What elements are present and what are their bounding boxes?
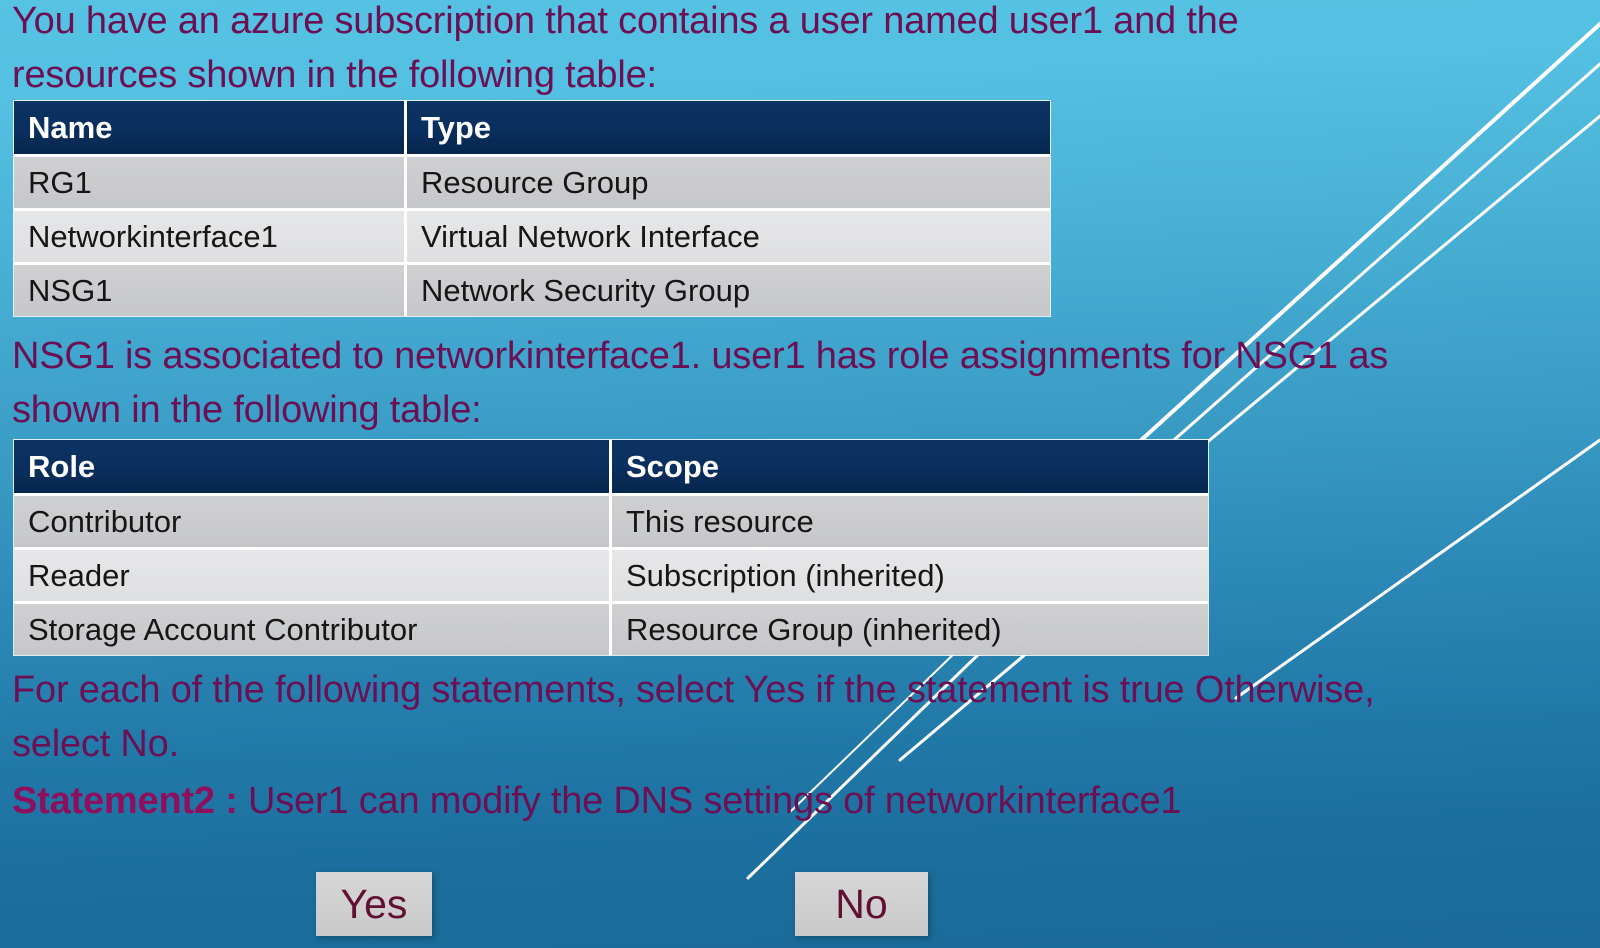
cell-name: Networkinterface1	[14, 211, 407, 265]
statement-label: Statement2 :	[12, 780, 248, 822]
nsg-paragraph: NSG1 is associated to networkinterface1.…	[12, 329, 1388, 437]
cell-role: Storage Account Contributor	[14, 604, 612, 655]
cell-type: Virtual Network Interface	[407, 211, 1050, 265]
intro-paragraph: You have an azure subscription that cont…	[12, 0, 1239, 102]
instruction-line-2: select No.	[12, 717, 1374, 771]
no-button[interactable]: No	[795, 872, 928, 936]
instruction-paragraph: For each of the following statements, se…	[12, 663, 1374, 771]
statement-paragraph: Statement2 : User1 can modify the DNS se…	[12, 774, 1181, 828]
table-row: NSG1 Network Security Group	[14, 265, 1050, 316]
resources-table: Name Type RG1 Resource Group Networkinte…	[14, 101, 1050, 316]
table-header-row: Role Scope	[14, 440, 1208, 496]
role-assignments-table: Role Scope Contributor This resource Rea…	[14, 440, 1208, 655]
intro-paragraph-line-2: resources shown in the following table:	[12, 48, 1239, 102]
yes-button-label: Yes	[341, 884, 408, 925]
presentation-slide: You have an azure subscription that cont…	[0, 0, 1600, 948]
cell-name: RG1	[14, 157, 407, 211]
nsg-paragraph-line-1: NSG1 is associated to networkinterface1.…	[12, 329, 1388, 383]
statement-text: User1 can modify the DNS settings of net…	[248, 780, 1181, 822]
cell-scope: Subscription (inherited)	[612, 550, 1208, 604]
column-header-type: Type	[407, 101, 1050, 157]
column-header-name: Name	[14, 101, 407, 157]
intro-paragraph-line-1: You have an azure subscription that cont…	[12, 0, 1239, 48]
column-header-scope: Scope	[612, 440, 1208, 496]
nsg-paragraph-line-2: shown in the following table:	[12, 383, 1388, 437]
yes-button[interactable]: Yes	[316, 872, 432, 936]
table-row: RG1 Resource Group	[14, 157, 1050, 211]
instruction-line-1: For each of the following statements, se…	[12, 663, 1374, 717]
cell-type: Resource Group	[407, 157, 1050, 211]
cell-name: NSG1	[14, 265, 407, 316]
table-row: Networkinterface1 Virtual Network Interf…	[14, 211, 1050, 265]
cell-scope: This resource	[612, 496, 1208, 550]
column-header-role: Role	[14, 440, 612, 496]
cell-role: Contributor	[14, 496, 612, 550]
table-row: Contributor This resource	[14, 496, 1208, 550]
table-row: Storage Account Contributor Resource Gro…	[14, 604, 1208, 655]
cell-type: Network Security Group	[407, 265, 1050, 316]
table-header-row: Name Type	[14, 101, 1050, 157]
no-button-label: No	[835, 884, 887, 925]
cell-role: Reader	[14, 550, 612, 604]
table-row: Reader Subscription (inherited)	[14, 550, 1208, 604]
cell-scope: Resource Group (inherited)	[612, 604, 1208, 655]
